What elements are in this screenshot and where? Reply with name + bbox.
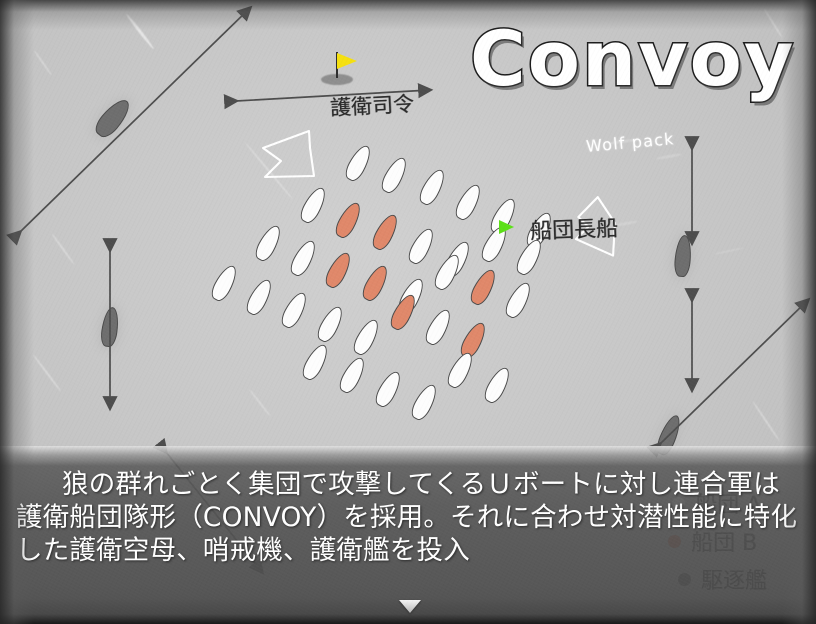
yellow-flag-icon	[337, 53, 357, 69]
next-page-indicator[interactable]	[399, 600, 421, 613]
green-flag-icon	[499, 220, 514, 234]
page-title: Convoy	[470, 14, 795, 103]
caption-text: 狼の群れごとく集団で攻撃してくるＵボートに対し連合軍は護衛船団隊形（CONVOY…	[0, 468, 816, 567]
label-commodore-ship: 船団長船	[529, 210, 618, 245]
convoy-diagram-slide: 護衛司令 船団長船 Wolf pack Convoy 船団 A 船団 B 駆逐艦…	[0, 0, 816, 624]
label-escort-command: 護衛司令	[329, 88, 414, 122]
